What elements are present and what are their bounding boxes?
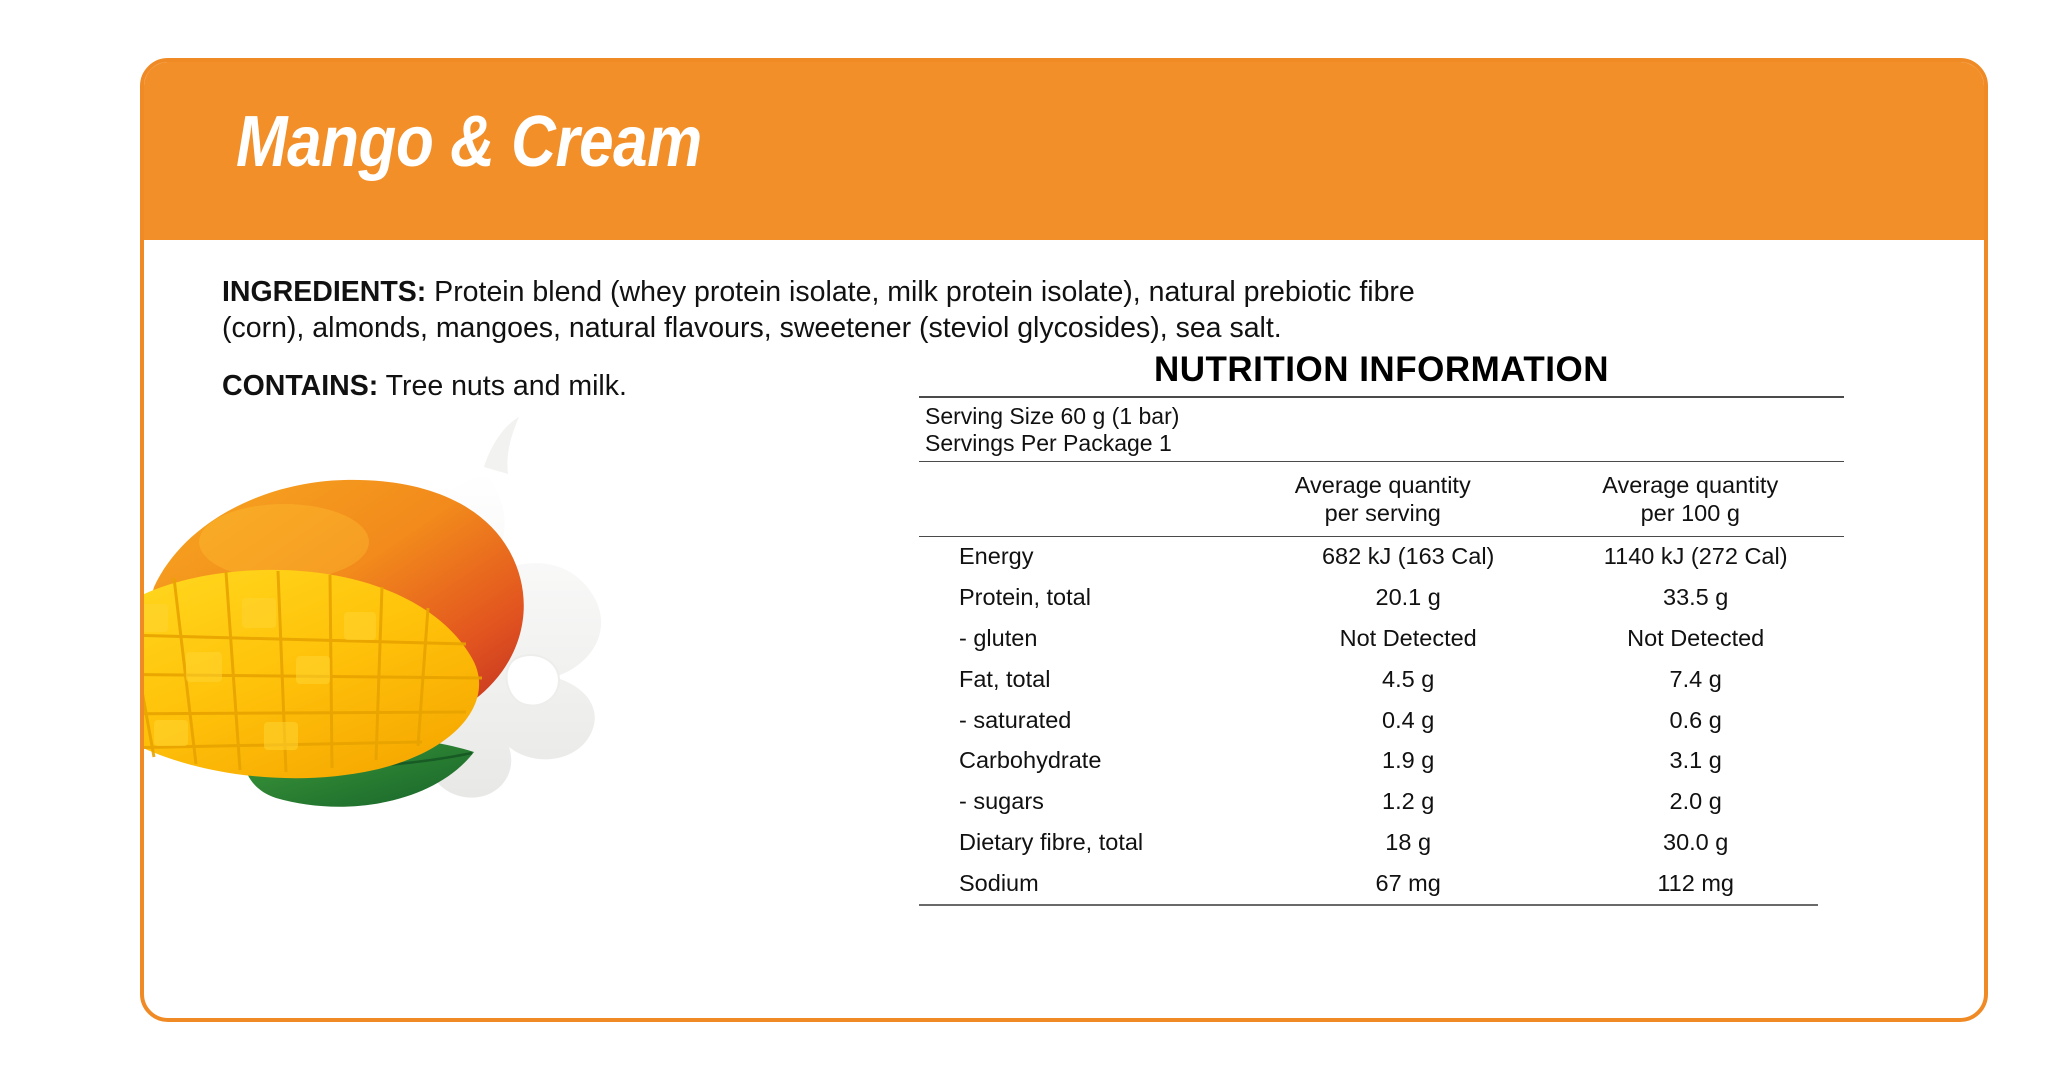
serving-info: Serving Size 60 g (1 bar) Servings Per P… bbox=[919, 398, 1844, 461]
nutrient-label: Carbohydrate bbox=[919, 741, 1269, 782]
nutrient-per-serving: 1.9 g bbox=[1269, 741, 1547, 782]
mango-and-cream-illustration bbox=[140, 412, 714, 832]
nutrient-per-serving: 1.2 g bbox=[1269, 782, 1547, 823]
table-row: Sodium 67 mg 112 mg bbox=[919, 863, 1844, 904]
nutrient-per-100g: 112 mg bbox=[1547, 863, 1844, 904]
whole-mango-icon bbox=[151, 480, 524, 732]
nutrition-title: NUTRITION INFORMATION bbox=[919, 350, 1844, 396]
nutrient-per-100g: 0.6 g bbox=[1547, 700, 1844, 741]
nutrient-label: Fat, total bbox=[919, 659, 1269, 700]
page-title: Mango & Cream bbox=[236, 106, 702, 178]
nutrition-table: Average quantity per serving Average qua… bbox=[919, 462, 1844, 535]
nutrient-per-serving: 20.1 g bbox=[1269, 578, 1547, 619]
nutrient-label: Energy bbox=[919, 537, 1269, 578]
table-row: - sugars 1.2 g 2.0 g bbox=[919, 782, 1844, 823]
table-row: - saturated 0.4 g 0.6 g bbox=[919, 700, 1844, 741]
nutrient-per-100g: Not Detected bbox=[1547, 618, 1844, 659]
product-label-card: Mango & Cream INGREDIENTS: Protein blend… bbox=[140, 58, 1988, 1022]
table-row: Fat, total 4.5 g 7.4 g bbox=[919, 659, 1844, 700]
nutrition-values-table: Energy 682 kJ (163 Cal) 1140 kJ (272 Cal… bbox=[919, 537, 1844, 905]
cut-mango-hedgehog-icon bbox=[140, 570, 482, 778]
contains-text: Tree nuts and milk. bbox=[378, 370, 627, 402]
nutrient-per-100g: 30.0 g bbox=[1547, 823, 1844, 864]
nutrient-per-100g: 7.4 g bbox=[1547, 659, 1844, 700]
table-header-row: Average quantity per serving Average qua… bbox=[919, 462, 1844, 535]
servings-per-package: Servings Per Package 1 bbox=[925, 430, 1844, 457]
serving-size: Serving Size 60 g (1 bar) bbox=[925, 403, 1844, 430]
column-header-per-100g: Average quantity per 100 g bbox=[1537, 462, 1845, 535]
nutrient-label: Protein, total bbox=[919, 578, 1269, 619]
nutrition-rule-bottom bbox=[919, 904, 1818, 906]
nutrient-per-100g: 1140 kJ (272 Cal) bbox=[1547, 537, 1844, 578]
nutrient-per-serving: 4.5 g bbox=[1269, 659, 1547, 700]
nutrient-per-serving: 0.4 g bbox=[1269, 700, 1547, 741]
table-row: Energy 682 kJ (163 Cal) 1140 kJ (272 Cal… bbox=[919, 537, 1844, 578]
table-row: - gluten Not Detected Not Detected bbox=[919, 618, 1844, 659]
column-header-blank bbox=[919, 462, 1229, 535]
nutrient-per-100g: 2.0 g bbox=[1547, 782, 1844, 823]
ingredients-label: INGREDIENTS: bbox=[222, 276, 426, 308]
green-leaf-icon bbox=[244, 737, 474, 806]
column-header-per-serving: Average quantity per serving bbox=[1229, 462, 1537, 535]
nutrient-label: - saturated bbox=[919, 700, 1269, 741]
nutrient-per-serving: 67 mg bbox=[1269, 863, 1547, 904]
nutrient-per-100g: 33.5 g bbox=[1547, 578, 1844, 619]
cream-splash-icon bbox=[140, 417, 601, 798]
nutrition-information-panel: NUTRITION INFORMATION Serving Size 60 g … bbox=[919, 350, 1844, 906]
table-row: Carbohydrate 1.9 g 3.1 g bbox=[919, 741, 1844, 782]
ingredients-block: INGREDIENTS: Protein blend (whey protein… bbox=[222, 274, 1492, 347]
nutrient-per-serving: 682 kJ (163 Cal) bbox=[1269, 537, 1547, 578]
nutrient-label: - gluten bbox=[919, 618, 1269, 659]
nutrient-label: Dietary fibre, total bbox=[919, 823, 1269, 864]
table-row: Protein, total 20.1 g 33.5 g bbox=[919, 578, 1844, 619]
nutrient-per-100g: 3.1 g bbox=[1547, 741, 1844, 782]
contains-block: CONTAINS: Tree nuts and milk. bbox=[222, 368, 627, 404]
table-row: Dietary fibre, total 18 g 30.0 g bbox=[919, 823, 1844, 864]
nutrient-label: - sugars bbox=[919, 782, 1269, 823]
nutrient-per-serving: Not Detected bbox=[1269, 618, 1547, 659]
contains-label: CONTAINS: bbox=[222, 370, 378, 402]
nutrient-label: Sodium bbox=[919, 863, 1269, 904]
nutrient-per-serving: 18 g bbox=[1269, 823, 1547, 864]
